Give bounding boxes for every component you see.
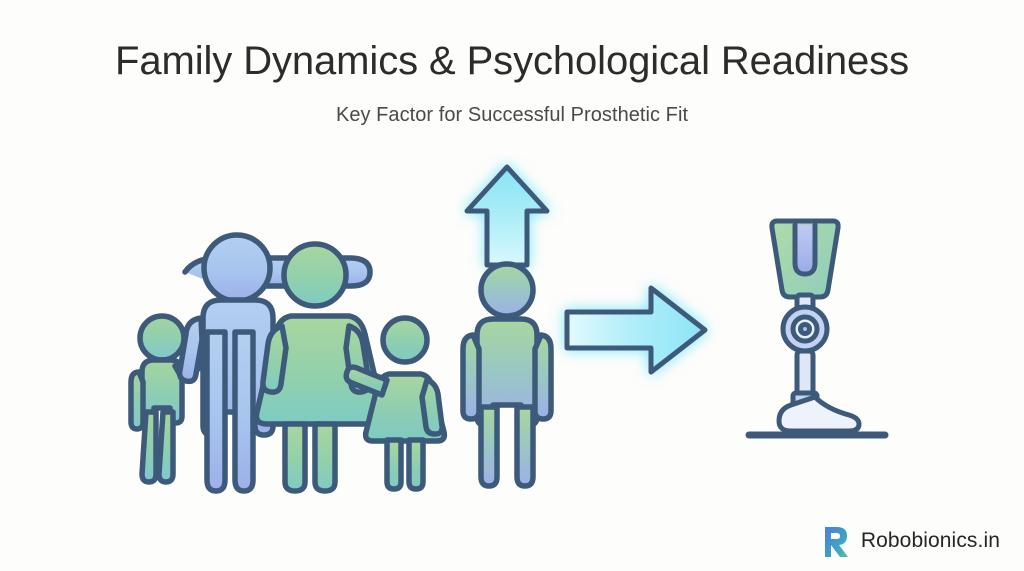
slide-canvas: Family Dynamics & Psychological Readines… xyxy=(0,0,1024,571)
prosthetic-liner xyxy=(795,225,815,274)
progress-arrow xyxy=(567,288,705,372)
prosthetic-leg xyxy=(735,205,895,445)
robobionics-logo-icon xyxy=(822,525,852,557)
figure-patient xyxy=(463,264,551,486)
illustration-stage xyxy=(0,150,1024,510)
brand-name: Robobionics.in xyxy=(861,529,1000,553)
upward-arrow xyxy=(467,167,547,265)
page-subtitle: Key Factor for Successful Prosthetic Fit xyxy=(0,84,1024,127)
page-title: Family Dynamics & Psychological Readines… xyxy=(0,38,1024,84)
center-figure-group xyxy=(455,155,725,495)
header-block: Family Dynamics & Psychological Readines… xyxy=(0,0,1024,127)
prosthetic-pylon xyxy=(797,351,813,395)
prosthetic-knee-joint xyxy=(783,307,827,351)
family-group xyxy=(125,190,455,500)
footer-logo: Robobionics.in xyxy=(822,525,1000,557)
